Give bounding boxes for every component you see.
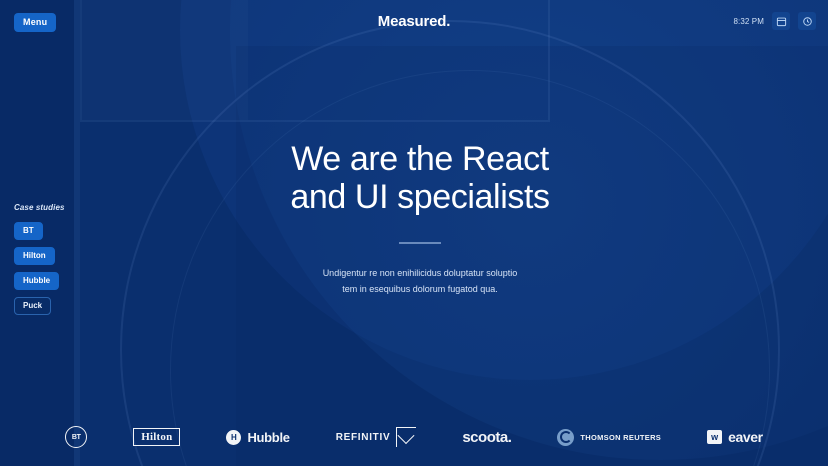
hero-divider [399,242,441,244]
thomson-reuters-icon [557,429,574,446]
hero-section: We are the React and UI specialists Undi… [160,140,680,298]
hero-body-text: Undigentur re non enihilicidus doluptatu… [160,266,680,298]
brand-logo: Measured. [0,13,828,30]
weaver-wordmark: eaver [728,429,763,445]
hero-body-line1: Undigentur re non enihilicidus doluptatu… [323,268,518,278]
thomson-reuters-wordmark: THOMSON REUTERS [580,433,661,442]
logo-scoota: scoota. [462,429,511,446]
case-study-row: BT [14,220,124,245]
case-study-bt[interactable]: BT [14,222,43,240]
client-logo-strip: BT Hilton H Hubble REFINITIV scoota. THO… [0,426,828,448]
logo-refinitiv: REFINITIV [336,427,417,447]
scoota-wordmark: scoota. [462,429,511,446]
hilton-wordmark: Hilton [133,428,180,446]
case-study-row: Hilton [14,245,124,270]
logo-bt: BT [65,426,87,448]
header-right-group: 8:32 PM [734,12,817,30]
weaver-icon: w [707,430,722,444]
clock-label: 8:32 PM [734,17,765,26]
refinitiv-wordmark: REFINITIV [336,432,391,443]
hero-body-line2: tem in esequibus dolorum fugatod qua. [342,284,498,294]
hero-headline-line1: We are the React [291,140,549,178]
case-study-puck[interactable]: Puck [14,297,51,315]
hubble-icon: H [226,430,241,445]
case-study-row: Hubble [14,270,124,295]
hubble-wordmark: Hubble [247,430,289,445]
logo-hilton: Hilton [133,428,180,446]
case-study-hubble[interactable]: Hubble [14,272,59,290]
logo-thomson-reuters: THOMSON REUTERS [557,429,661,446]
hero-headline-line2: and UI specialists [290,178,549,216]
case-studies-title: Case studies [14,203,124,212]
bt-icon: BT [65,426,87,448]
logo-hubble: H Hubble [226,430,289,445]
refinitiv-arrow-icon [396,427,416,447]
clock-icon[interactable] [798,12,816,30]
case-studies-panel: Case studies BT Hilton Hubble Puck [14,203,124,320]
page-title: We are the React and UI specialists [160,140,680,216]
site-header: Menu Measured. 8:32 PM [0,0,828,46]
calendar-icon[interactable] [772,12,790,30]
page-root: Menu Measured. 8:32 PM Case studies BT [0,0,828,466]
case-study-hilton[interactable]: Hilton [14,247,55,265]
case-study-row: Puck [14,295,124,320]
logo-weaver: w eaver [707,429,763,445]
